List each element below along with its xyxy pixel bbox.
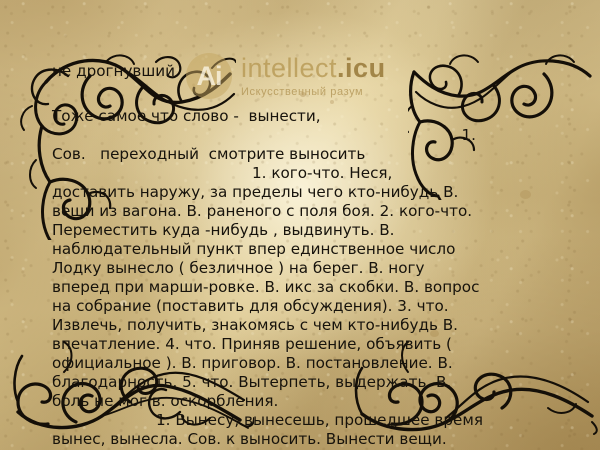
entry-line: 1. Вынесу, вынесешь, прошедшее время xyxy=(52,411,556,430)
entry-line: Сов. переходный смотрите выносить xyxy=(52,145,556,164)
entry-line: 1. xyxy=(52,126,556,145)
entry-line: благодарность. 5. что. Вытерпеть, выдерж… xyxy=(52,373,556,392)
entry-line: Извлечь, получить, знакомясь с чем кто-н… xyxy=(52,316,556,335)
entry-line: вынес, вынесла. Сов. к выносить. Вынести… xyxy=(52,430,556,449)
entry-line: Лодку вынесло ( безличное ) на берег. В.… xyxy=(52,259,556,278)
page-title: не дрогнувший xyxy=(52,62,556,81)
entry-line: впечатление. 4. что. Приняв решение, объ… xyxy=(52,335,556,354)
entry-line: Тоже самое что слово - вынести, xyxy=(52,107,556,126)
entry-body: Тоже самое что слово - вынести,1.Сов. пе… xyxy=(52,107,556,450)
entry-line: 1. кого-что. Неся, xyxy=(52,164,556,183)
entry-line: вперед при марши-ровке. В. икс за скобки… xyxy=(52,278,556,297)
dictionary-entry: не дрогнувший Тоже самое что слово - вын… xyxy=(52,62,556,450)
entry-line: официальное ). В. приговор. В. постановл… xyxy=(52,354,556,373)
entry-line: наблюдательный пункт впер единственное ч… xyxy=(52,240,556,259)
entry-line: Переместить куда -нибудь , выдвинуть. В. xyxy=(52,221,556,240)
parchment-page: Ai intellect.icu Искусственный разум не … xyxy=(0,0,600,450)
entry-line: вещи из вагона. В. раненого с поля боя. … xyxy=(52,202,556,221)
entry-line: на собрание (поставить для обсуждения). … xyxy=(52,297,556,316)
entry-line: доставить наружу, за пределы чего кто-ни… xyxy=(52,183,556,202)
entry-line: боль не мог в. оскорбления. xyxy=(52,392,556,411)
